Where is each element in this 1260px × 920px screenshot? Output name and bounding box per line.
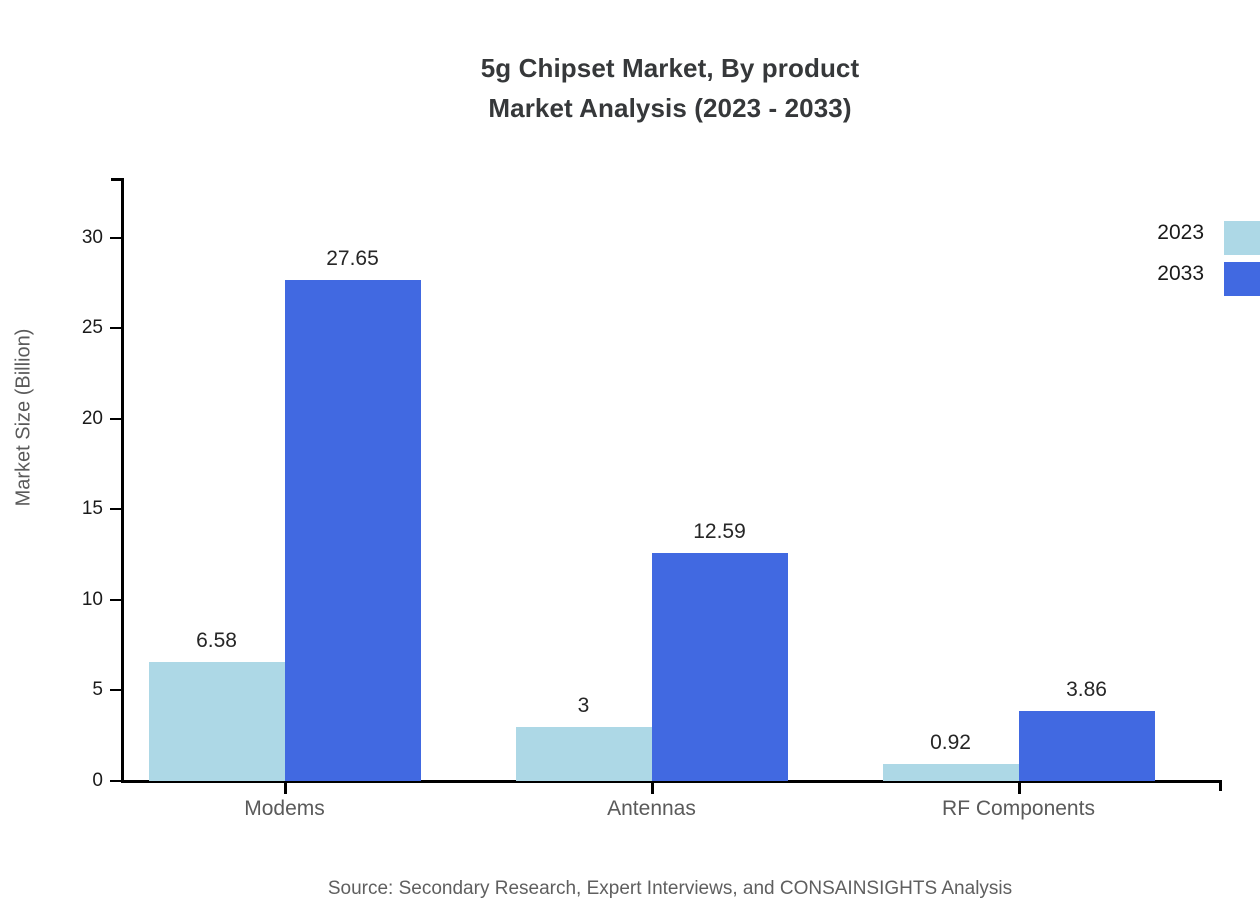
- bar-2023-modems[interactable]: [149, 662, 285, 781]
- legend-item-2033[interactable]: 2033: [1130, 256, 1260, 297]
- chart-title: 5g Chipset Market, By product Market Ana…: [0, 48, 1260, 128]
- bar-value-label: 3.86: [1019, 679, 1155, 700]
- bar-value-label: 12.59: [652, 521, 788, 542]
- y-axis-tick: [110, 689, 121, 691]
- y-axis-tick-label: 20: [43, 409, 103, 428]
- plot-area: 6.5827.65312.590.923.86: [121, 178, 1222, 781]
- y-axis-title: Market Size (Billion): [13, 268, 36, 568]
- y-axis-tick: [110, 327, 121, 329]
- chart-title-line-2: Market Analysis (2023 - 2033): [0, 88, 1260, 128]
- legend-label: 2023: [1157, 221, 1204, 245]
- bar-2023-antennas[interactable]: [516, 727, 652, 781]
- chart-legend: 20232033: [1130, 215, 1260, 297]
- bar-2033-rf-components[interactable]: [1019, 711, 1155, 781]
- x-axis-category-label: Modems: [155, 795, 415, 823]
- bar-chart: 5g Chipset Market, By product Market Ana…: [0, 0, 1260, 920]
- source-note: Source: Secondary Research, Expert Inter…: [0, 878, 1260, 900]
- y-axis-tick-label: 15: [43, 499, 103, 518]
- bar-2033-modems[interactable]: [285, 280, 421, 781]
- bar-value-label: 0.92: [883, 732, 1019, 753]
- bar-value-label: 6.58: [149, 630, 285, 651]
- y-axis-tick-label: 10: [43, 590, 103, 609]
- x-axis-right-cap: [1219, 780, 1222, 791]
- x-axis-tick: [1018, 783, 1021, 794]
- y-axis-tick: [110, 780, 121, 782]
- y-axis-tick-label: 25: [43, 318, 103, 337]
- y-axis-tick-label: 30: [43, 228, 103, 247]
- chart-title-line-1: 5g Chipset Market, By product: [0, 48, 1260, 88]
- y-axis-top-cap: [111, 178, 121, 181]
- x-axis-tick: [284, 783, 287, 794]
- legend-item-2023[interactable]: 2023: [1130, 215, 1260, 256]
- legend-swatch: [1224, 262, 1260, 296]
- y-axis-tick: [110, 418, 121, 420]
- x-axis-category-label: Antennas: [522, 795, 782, 823]
- bar-2023-rf-components[interactable]: [883, 764, 1019, 781]
- y-axis-tick-label: 0: [43, 771, 103, 790]
- x-axis-category-label: RF Components: [889, 795, 1149, 823]
- bar-value-label: 27.65: [285, 248, 421, 269]
- y-axis-tick: [110, 508, 121, 510]
- y-axis-tick: [110, 599, 121, 601]
- legend-swatch: [1224, 221, 1260, 255]
- bar-value-label: 3: [516, 695, 652, 716]
- x-axis-tick: [651, 783, 654, 794]
- bar-2033-antennas[interactable]: [652, 553, 788, 781]
- y-axis-tick: [110, 237, 121, 239]
- legend-label: 2033: [1157, 262, 1204, 286]
- y-axis-tick-label: 5: [43, 680, 103, 699]
